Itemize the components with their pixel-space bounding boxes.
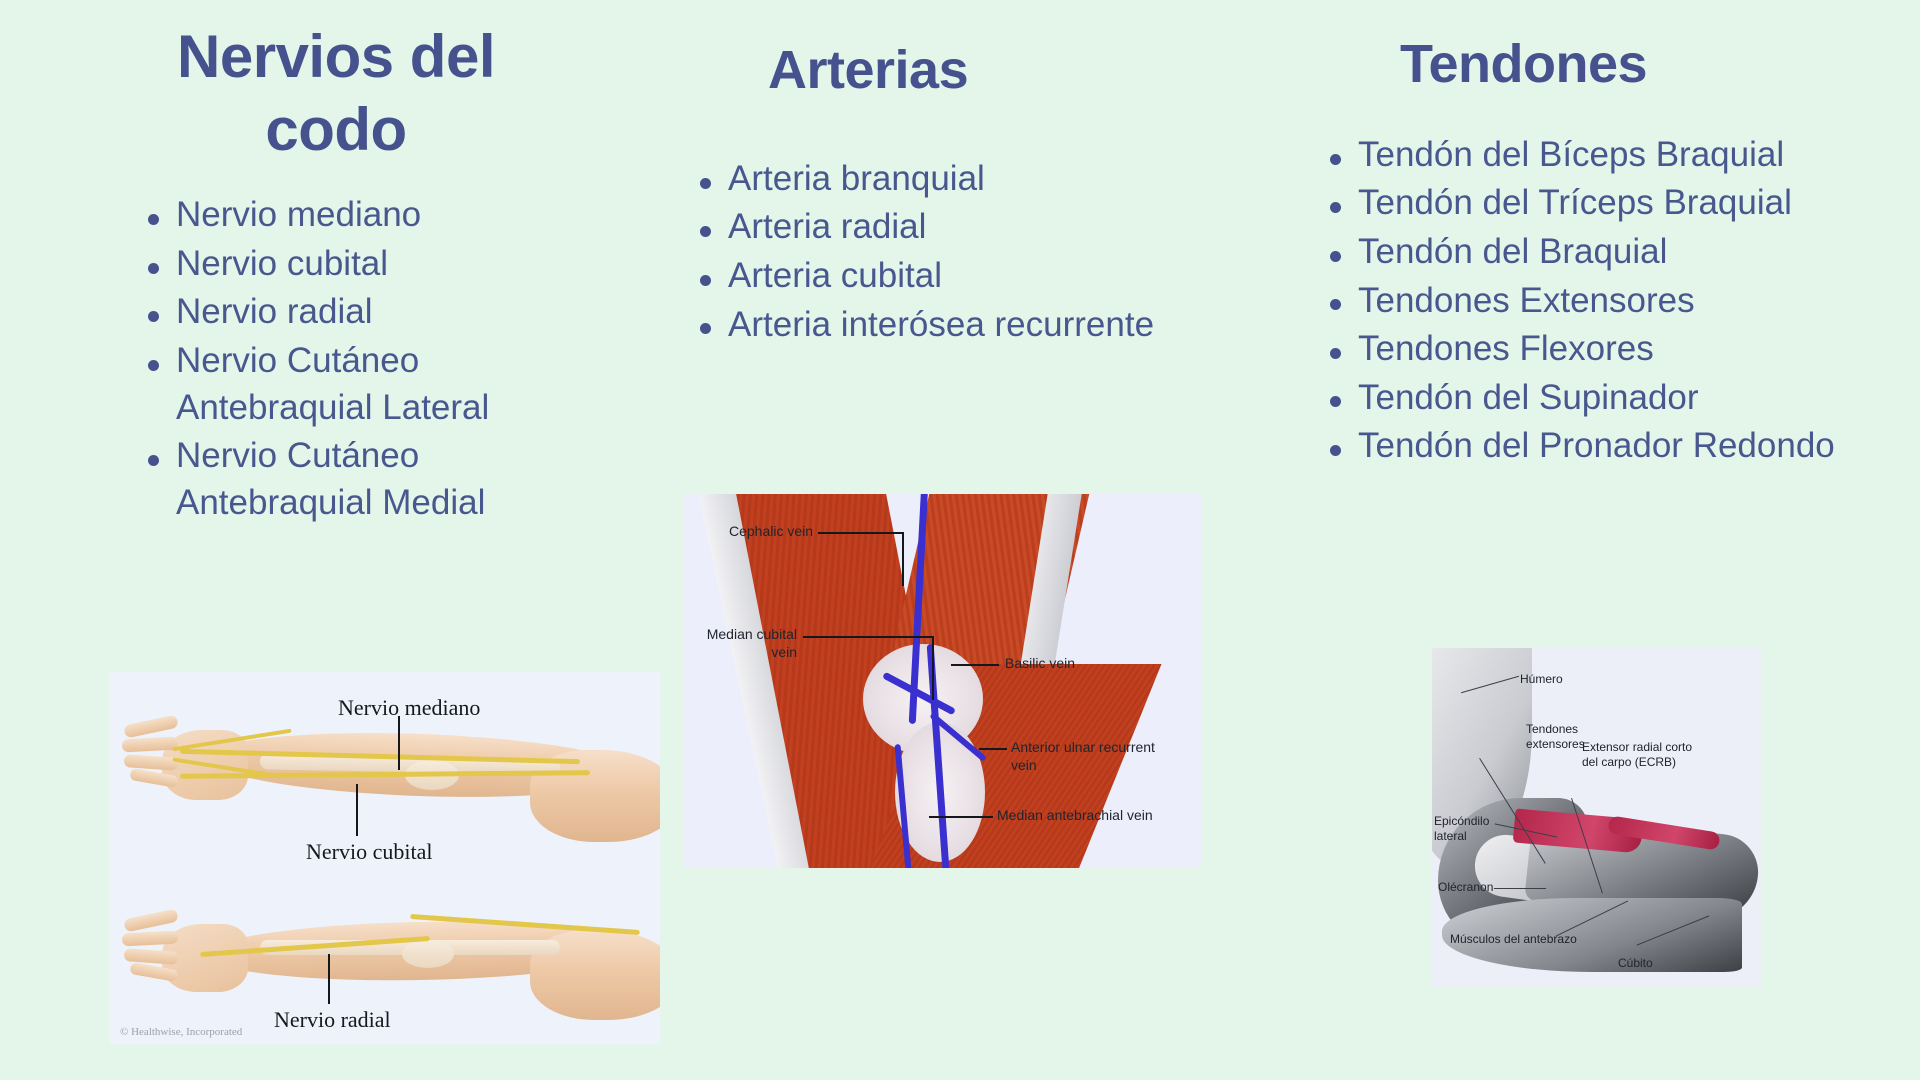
leader-line-cephalic-v <box>902 532 904 586</box>
figure-credit-healthwise: © Healthwise, Incorporated <box>120 1026 242 1038</box>
list-item: Tendón del Bíceps Braquial <box>1320 132 1880 179</box>
figure-label-nervio-radial: Nervio radial <box>274 1006 391 1034</box>
figure-label-musculos-antebrazo: Músculos del antebrazo <box>1450 932 1577 947</box>
elbow-joint-lower <box>402 940 454 968</box>
list-item: Arteria interósea recurrente <box>690 302 1230 349</box>
column-tendones: Tendones Tendón del Bíceps Braquial Tend… <box>1290 32 1890 472</box>
leader-line-ulnar <box>356 784 358 836</box>
leader-line-radial <box>328 954 330 1004</box>
figure-label-cephalic-vein: Cephalic vein <box>729 523 813 541</box>
leader-line-olecranon <box>1494 888 1546 889</box>
finger-lower-3 <box>124 948 179 965</box>
leader-line-anterior-ulnar <box>979 748 1007 750</box>
list-item: Arteria branquial <box>690 156 1230 203</box>
figure-label-anterior-ulnar-recurrent-vein: Anterior ulnar recurrent vein <box>1011 739 1171 774</box>
figure-venas-anatomy: Cephalic vein Median cubital vein Basili… <box>683 494 1201 868</box>
list-item: Tendón del Pronador Redondo <box>1320 423 1880 470</box>
title-line-1: Nervios del <box>177 23 495 90</box>
leader-line-median-cubital-v <box>932 636 934 700</box>
list-item: Nervio Cutáneo Antebraquial Medial <box>138 433 608 526</box>
figure-label-ecrb: Extensor radial corto del carpo (ECRB) <box>1582 740 1708 770</box>
finger-upper-3 <box>124 754 179 771</box>
column-arterias: Arterias Arteria branquial Arteria radia… <box>660 38 1220 350</box>
bullet-list-arterias: Arteria branquial Arteria radial Arteria… <box>690 156 1230 348</box>
slide-canvas: Nervios del codo Nervio mediano Nervio c… <box>0 0 1920 1080</box>
page-title-nervios: Nervios del codo <box>136 20 536 166</box>
figure-label-epicondilo-lateral: Epicóndilo lateral <box>1434 814 1496 844</box>
list-item: Tendón del Braquial <box>1320 229 1880 276</box>
leader-line-median-antebrachial <box>929 816 993 818</box>
finger-upper-1 <box>123 715 179 739</box>
figure-label-humero: Húmero <box>1520 672 1563 687</box>
finger-lower-1 <box>123 909 179 933</box>
figure-label-nervio-mediano: Nervio mediano <box>338 694 480 722</box>
column-nervios: Nervios del codo Nervio mediano Nervio c… <box>96 20 656 528</box>
figure-label-median-cubital-vein: Median cubital vein <box>693 626 797 661</box>
figure-label-nervio-cubital: Nervio cubital <box>306 838 432 866</box>
figure-label-olecranon: Olécranon <box>1438 880 1493 895</box>
figure-label-basilic-vein: Basilic vein <box>1005 655 1075 673</box>
leader-line-basilic <box>951 664 999 666</box>
page-title-tendones: Tendones <box>1400 32 1890 98</box>
leader-line-cephalic-h <box>818 532 904 534</box>
figure-tendones-anatomy: Húmero Tendones extensores Extensor radi… <box>1432 648 1762 988</box>
list-item: Nervio Cutáneo Antebraquial Lateral <box>138 338 608 431</box>
figure-nervios-anatomy: Nervio mediano Nervio cubital Nervio rad… <box>110 672 660 1044</box>
list-item: Tendones Flexores <box>1320 326 1880 373</box>
list-item: Tendones Extensores <box>1320 278 1880 325</box>
list-item: Nervio cubital <box>138 241 608 288</box>
list-item: Arteria cubital <box>690 253 1230 300</box>
leader-line-median <box>398 716 400 770</box>
bullet-list-tendones: Tendón del Bíceps Braquial Tendón del Tr… <box>1320 132 1880 470</box>
list-item: Nervio mediano <box>138 192 608 239</box>
figure-label-cubito: Cúbito <box>1618 956 1653 971</box>
list-item: Nervio radial <box>138 289 608 336</box>
title-line-2: codo <box>265 96 406 163</box>
list-item: Tendón del Supinador <box>1320 375 1880 422</box>
figure-label-median-antebrachial-vein: Median antebrachial vein <box>997 807 1165 825</box>
list-item: Arteria radial <box>690 204 1230 251</box>
list-item: Tendón del Tríceps Braquial <box>1320 180 1880 227</box>
bullet-list-nervios: Nervio mediano Nervio cubital Nervio rad… <box>138 192 608 526</box>
page-title-arterias: Arterias <box>768 38 1220 104</box>
leader-line-median-cubital-h <box>803 636 933 638</box>
